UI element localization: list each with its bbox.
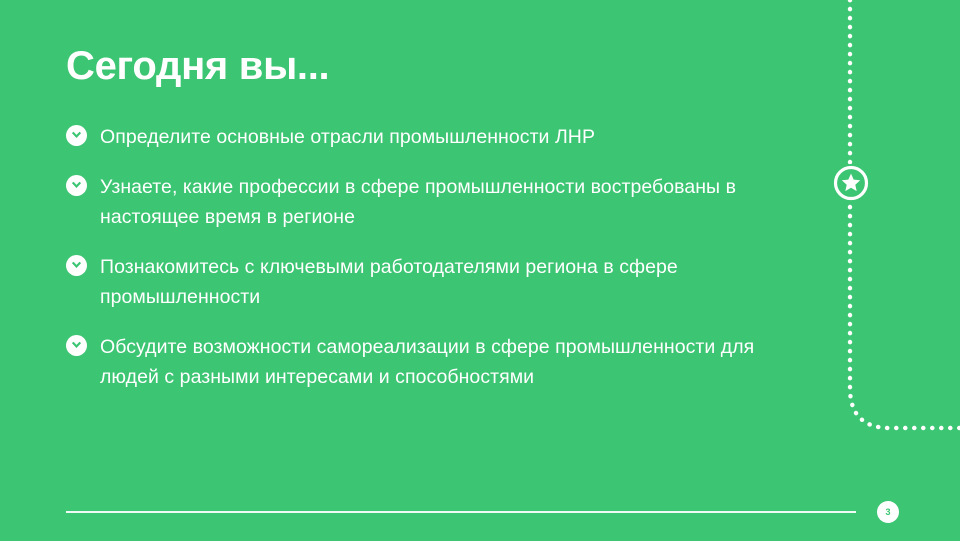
chevron-down-circle-icon <box>66 255 87 276</box>
bullet-list: Определите основные отрасли промышленнос… <box>66 122 766 412</box>
list-item: Познакомитесь с ключевыми работодателями… <box>66 252 766 312</box>
list-item: Обсудите возможности самореализации в сф… <box>66 332 766 392</box>
star-circle-icon <box>832 164 870 202</box>
list-item: Узнаете, какие профессии в сфере промышл… <box>66 172 766 232</box>
list-item-label: Узнаете, какие профессии в сфере промышл… <box>100 172 766 232</box>
list-item-label: Познакомитесь с ключевыми работодателями… <box>100 252 766 312</box>
footer-divider <box>66 511 856 513</box>
list-item-label: Определите основные отрасли промышленнос… <box>100 122 595 152</box>
slide: Сегодня вы... Определите основные отрасл… <box>0 0 960 541</box>
page-title: Сегодня вы... <box>66 44 329 88</box>
chevron-down-circle-icon <box>66 125 87 146</box>
chevron-down-circle-icon <box>66 335 87 356</box>
list-item: Определите основные отрасли промышленнос… <box>66 122 766 152</box>
chevron-down-circle-icon <box>66 175 87 196</box>
list-item-label: Обсудите возможности самореализации в сф… <box>100 332 766 392</box>
page-number-badge: 3 <box>877 501 899 523</box>
dotted-path-decoration <box>780 0 960 541</box>
